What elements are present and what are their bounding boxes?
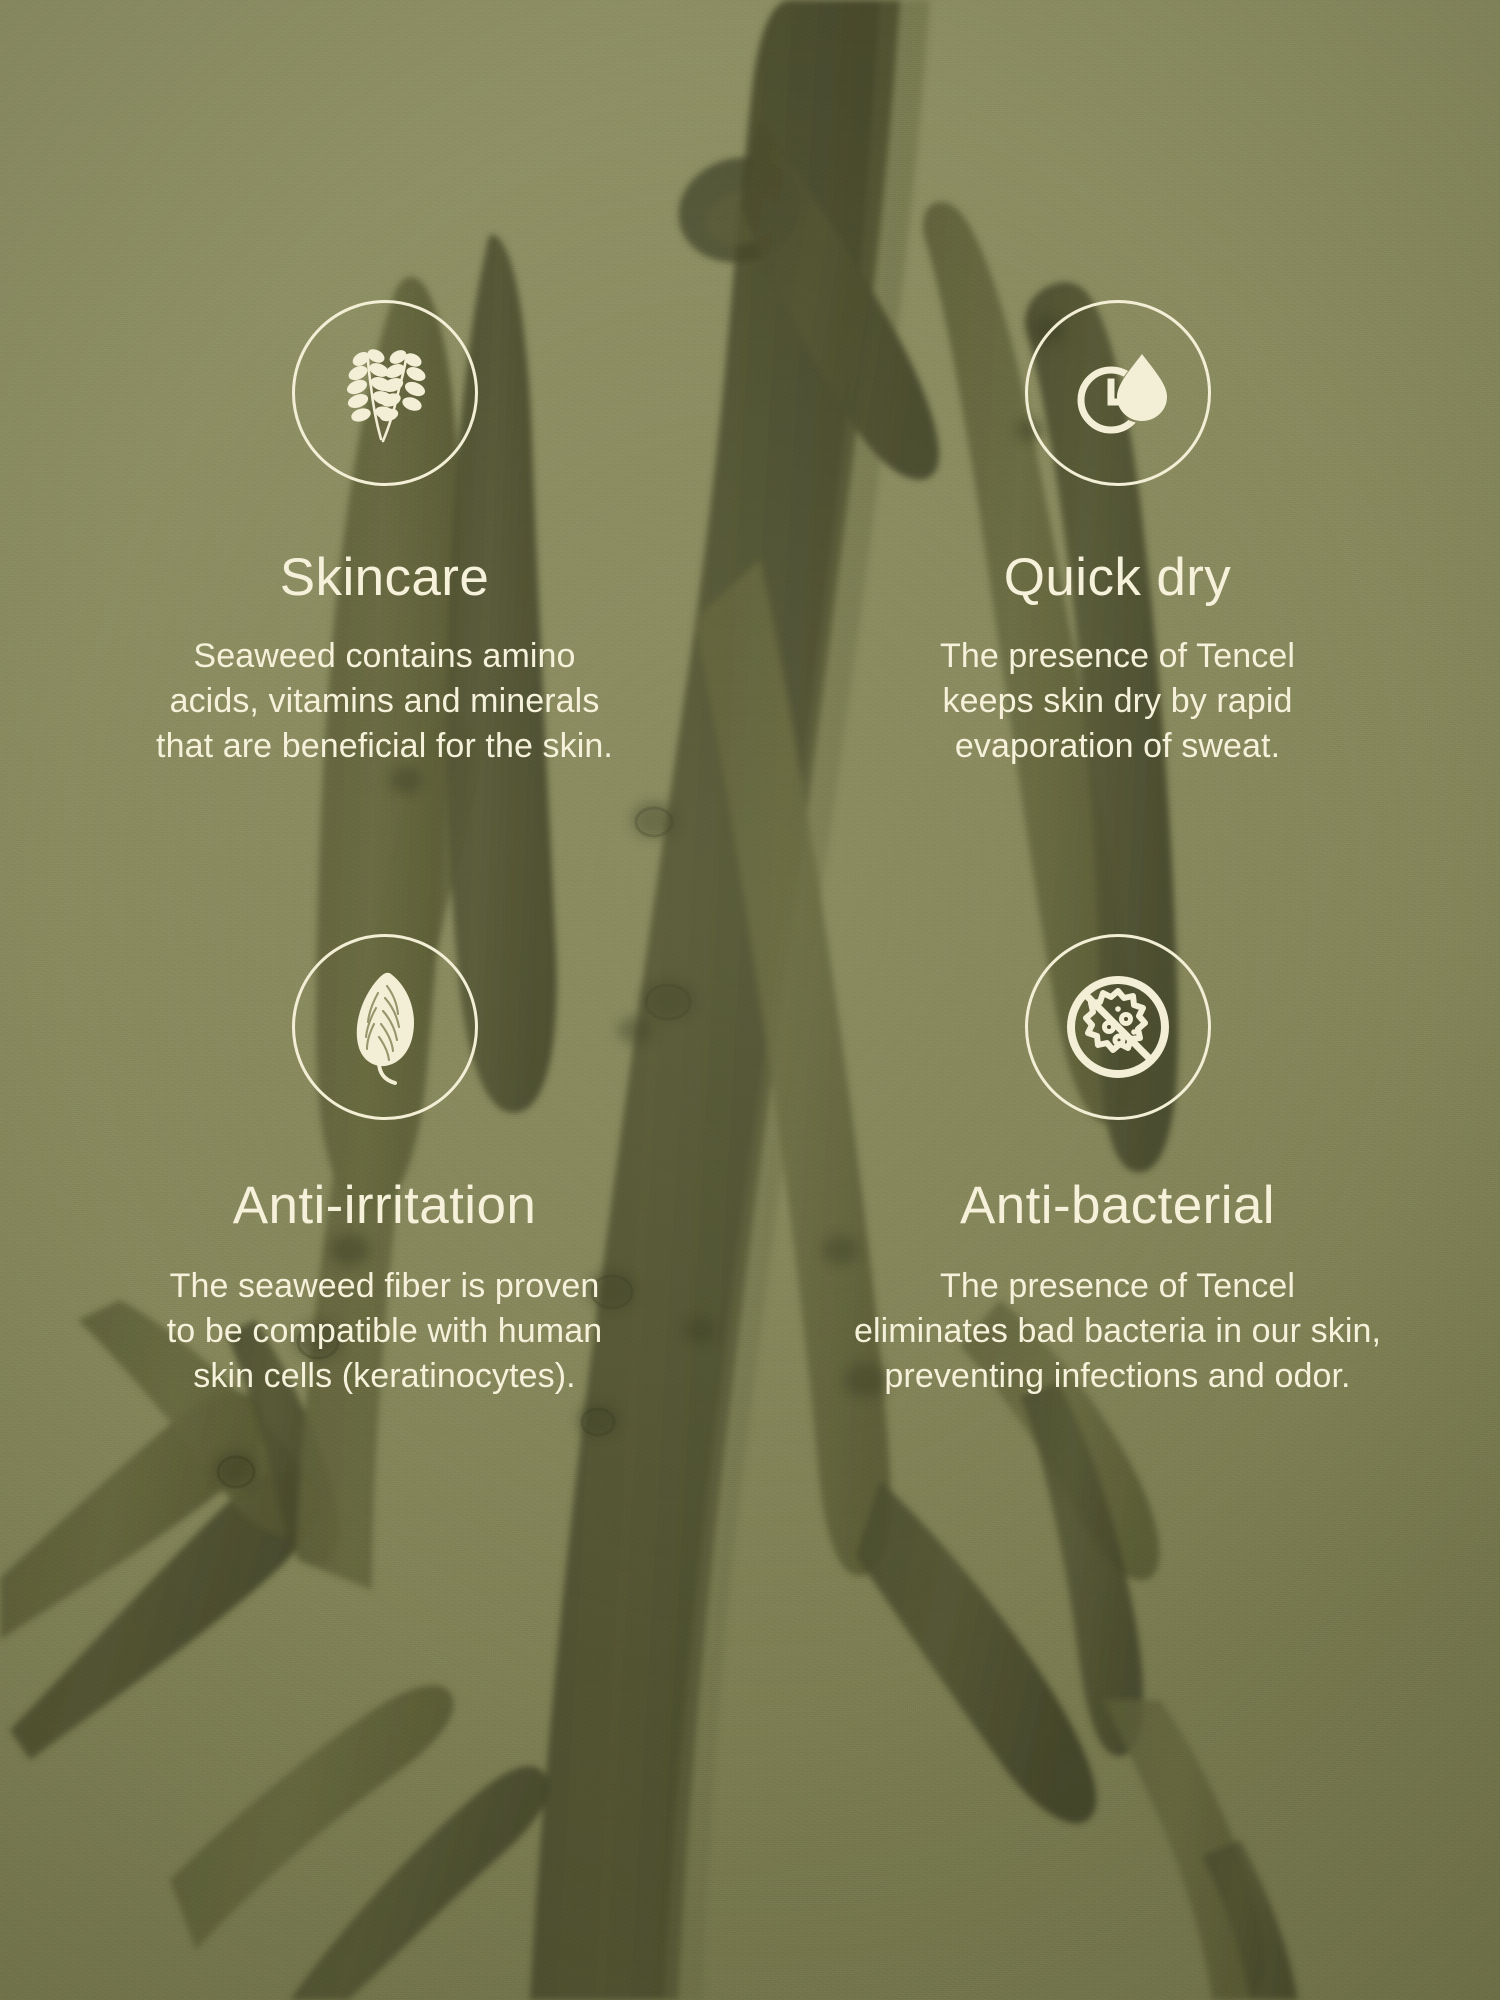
feature-title: Quick dry — [1004, 550, 1231, 606]
feature-body: The presence of Tencel keeps skin dry by… — [940, 634, 1295, 770]
feature-body: The seaweed fiber is proven to be compat… — [167, 1264, 603, 1400]
feature-body-line: acids, vitamins and minerals — [156, 679, 613, 724]
feature-body-line: The seaweed fiber is proven — [167, 1264, 603, 1309]
feature-body-line: evaporation of sweat. — [940, 724, 1295, 769]
feature-body: The presence of Tencel eliminates bad ba… — [854, 1264, 1381, 1400]
feature-title: Anti-irritation — [233, 1178, 536, 1234]
feature-body-line: to be compatible with human — [167, 1309, 603, 1354]
feature-card-anti-bacterial: Anti-bacterial The presence of Tencel el… — [765, 934, 1470, 1580]
feature-body-line: eliminates bad bacteria in our skin, — [854, 1309, 1381, 1354]
feature-body-line: Seaweed contains amino — [156, 634, 613, 679]
feature-card-skincare: Skincare Seaweed contains amino acids, v… — [32, 300, 737, 940]
feature-infographic-page: Skincare Seaweed contains amino acids, v… — [0, 0, 1500, 2000]
seaweed-sprig-icon — [292, 300, 478, 486]
feature-body: Seaweed contains amino acids, vitamins a… — [156, 634, 613, 770]
feature-body-line: The presence of Tencel — [854, 1264, 1381, 1309]
feature-title: Skincare — [280, 550, 489, 606]
feature-body-line: that are beneficial for the skin. — [156, 724, 613, 769]
feature-body-line: keeps skin dry by rapid — [940, 679, 1295, 724]
clock-water-droplet-icon — [1025, 300, 1211, 486]
no-bacteria-icon — [1025, 934, 1211, 1120]
feature-body-line: The presence of Tencel — [940, 634, 1295, 679]
feature-card-anti-irritation: Anti-irritation The seaweed fiber is pro… — [32, 934, 737, 1580]
feather-icon — [292, 934, 478, 1120]
feature-body-line: preventing infections and odor. — [854, 1354, 1381, 1399]
feature-grid: Skincare Seaweed contains amino acids, v… — [0, 0, 1500, 2000]
feature-body-line: skin cells (keratinocytes). — [167, 1354, 603, 1399]
feature-card-quick-dry: Quick dry The presence of Tencel keeps s… — [765, 300, 1470, 940]
feature-title: Anti-bacterial — [960, 1178, 1275, 1234]
